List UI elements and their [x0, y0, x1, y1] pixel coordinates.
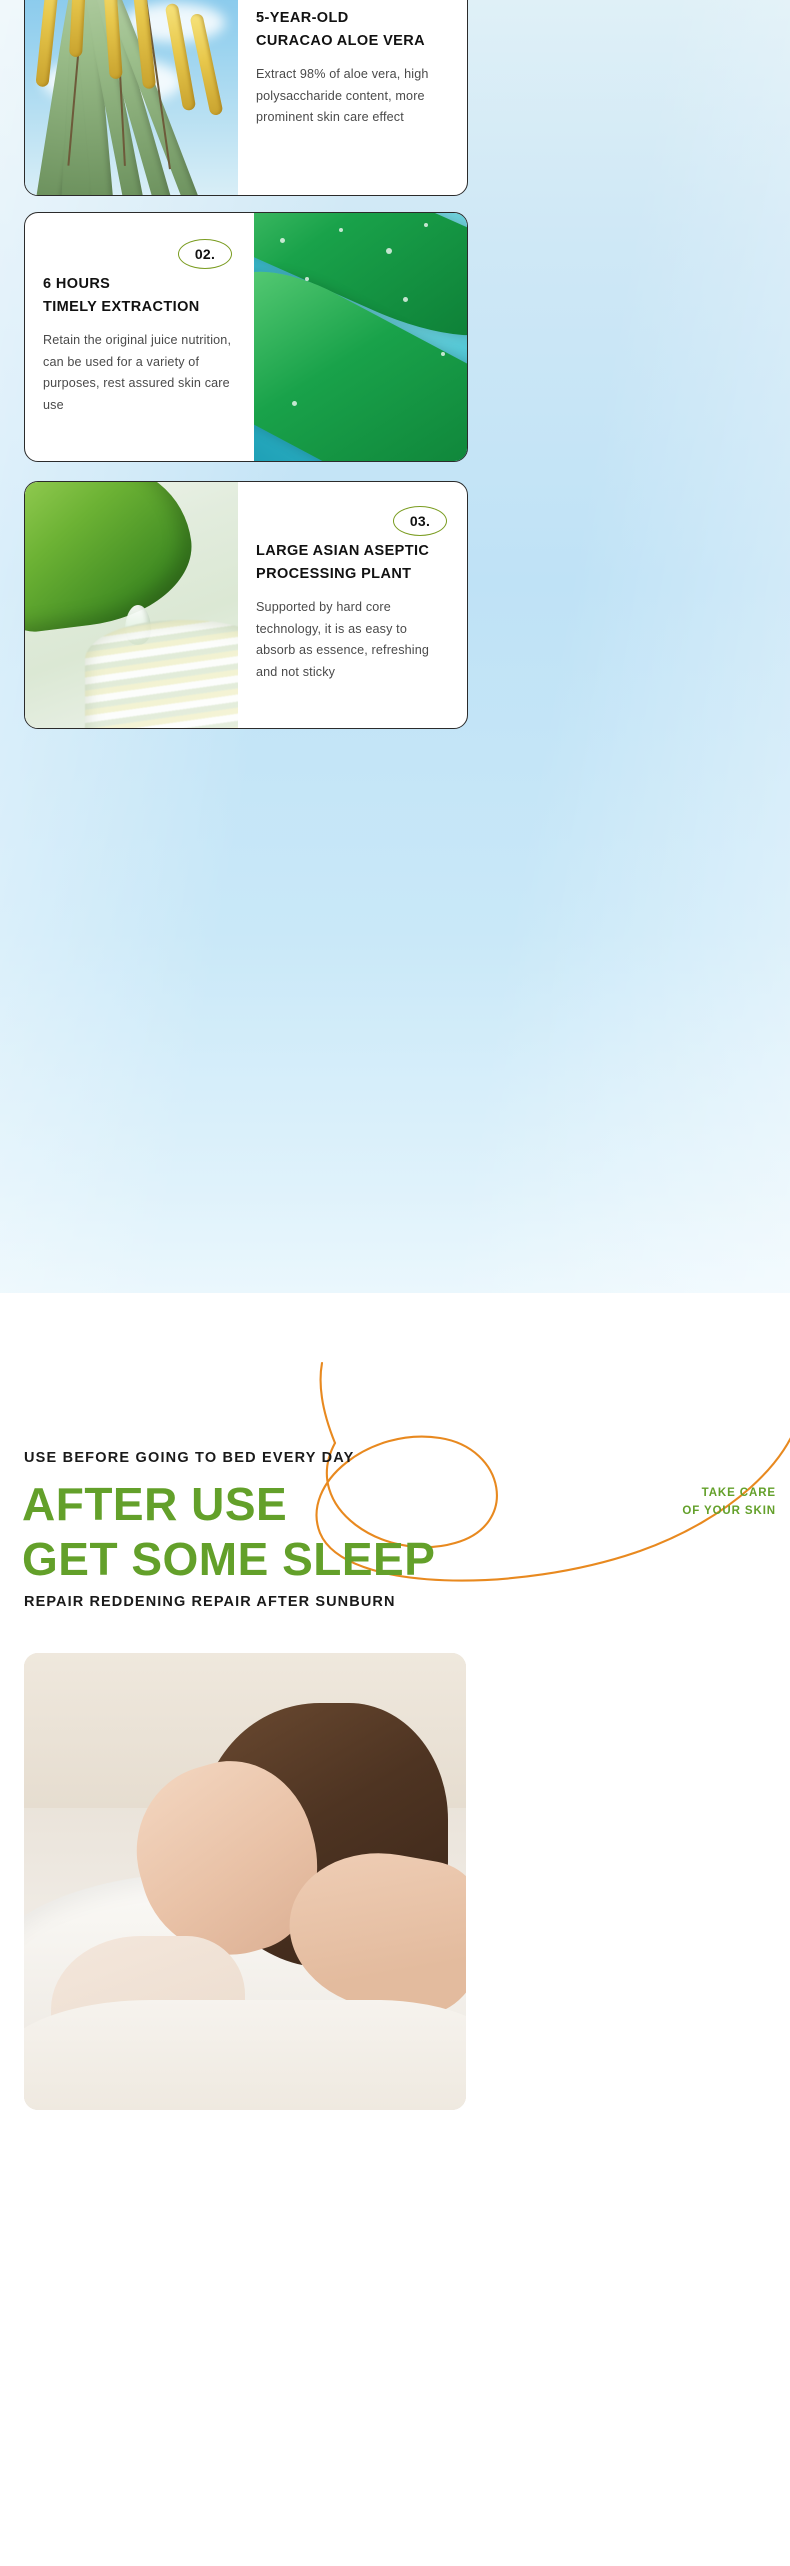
- promo-section: USE BEFORE GOING TO BED EVERY DAY AFTER …: [0, 1293, 790, 2566]
- feature-card-2-image: [254, 213, 467, 461]
- feature-card-2[interactable]: 02. 6 HOURS TIMELY EXTRACTION Retain the…: [24, 212, 468, 462]
- leaf-water-photo: [254, 213, 467, 461]
- feature-card-2-number-badge: 02.: [178, 239, 232, 269]
- promo-hero-image: [24, 1653, 466, 2110]
- features-section: 01. 5-YEAR-OLD CURACAO ALOE VERA Extract…: [0, 0, 790, 1293]
- feature-card-3-title-line1: LARGE ASIAN ASEPTIC: [256, 540, 449, 563]
- feature-card-3[interactable]: 03. LARGE ASIAN ASEPTIC PROCESSING PLANT…: [24, 481, 468, 729]
- promo-side-note-line1: TAKE CARE: [682, 1485, 776, 1503]
- feature-card-1-description: Extract 98% of aloe vera, high polysacch…: [256, 64, 449, 129]
- feature-card-2-title: 6 HOURS TIMELY EXTRACTION: [43, 273, 236, 320]
- feature-card-2-body: 02. 6 HOURS TIMELY EXTRACTION Retain the…: [25, 213, 254, 461]
- feature-card-1-image: [25, 0, 238, 195]
- promo-headline-line1: AFTER USE: [22, 1481, 287, 1527]
- feature-card-3-number-badge: 03.: [393, 506, 447, 536]
- feature-card-3-title-line2: PROCESSING PLANT: [256, 563, 449, 586]
- feature-card-3-description: Supported by hard core technology, it is…: [256, 597, 449, 684]
- feature-card-2-description: Retain the original juice nutrition, can…: [43, 330, 236, 417]
- promo-side-note-line2: OF YOUR SKIN: [682, 1503, 776, 1521]
- feature-card-2-title-line1: 6 HOURS: [43, 273, 236, 296]
- sleeping-woman-photo: [24, 1653, 466, 2110]
- aloe-sky-photo: [25, 0, 238, 195]
- feature-card-1-title-line2: CURACAO ALOE VERA: [256, 30, 449, 53]
- feature-card-2-title-line2: TIMELY EXTRACTION: [43, 296, 236, 319]
- feature-card-3-body: 03. LARGE ASIAN ASEPTIC PROCESSING PLANT…: [238, 482, 467, 728]
- feature-card-1[interactable]: 01. 5-YEAR-OLD CURACAO ALOE VERA Extract…: [24, 0, 468, 196]
- promo-subline: REPAIR REDDENING REPAIR AFTER SUNBURN: [24, 1594, 396, 1610]
- promo-eyebrow: USE BEFORE GOING TO BED EVERY DAY: [24, 1450, 354, 1466]
- feature-card-1-title-line1: 5-YEAR-OLD: [256, 7, 449, 30]
- feature-card-1-body: 01. 5-YEAR-OLD CURACAO ALOE VERA Extract…: [238, 0, 467, 195]
- feature-card-3-image: [25, 482, 238, 728]
- feature-card-3-title: LARGE ASIAN ASEPTIC PROCESSING PLANT: [256, 540, 449, 587]
- feature-card-1-title: 5-YEAR-OLD CURACAO ALOE VERA: [256, 7, 449, 54]
- promo-headline-line2: GET SOME SLEEP: [22, 1536, 435, 1582]
- promo-side-note: TAKE CARE OF YOUR SKIN: [682, 1485, 776, 1521]
- aloe-drip-photo: [25, 482, 238, 728]
